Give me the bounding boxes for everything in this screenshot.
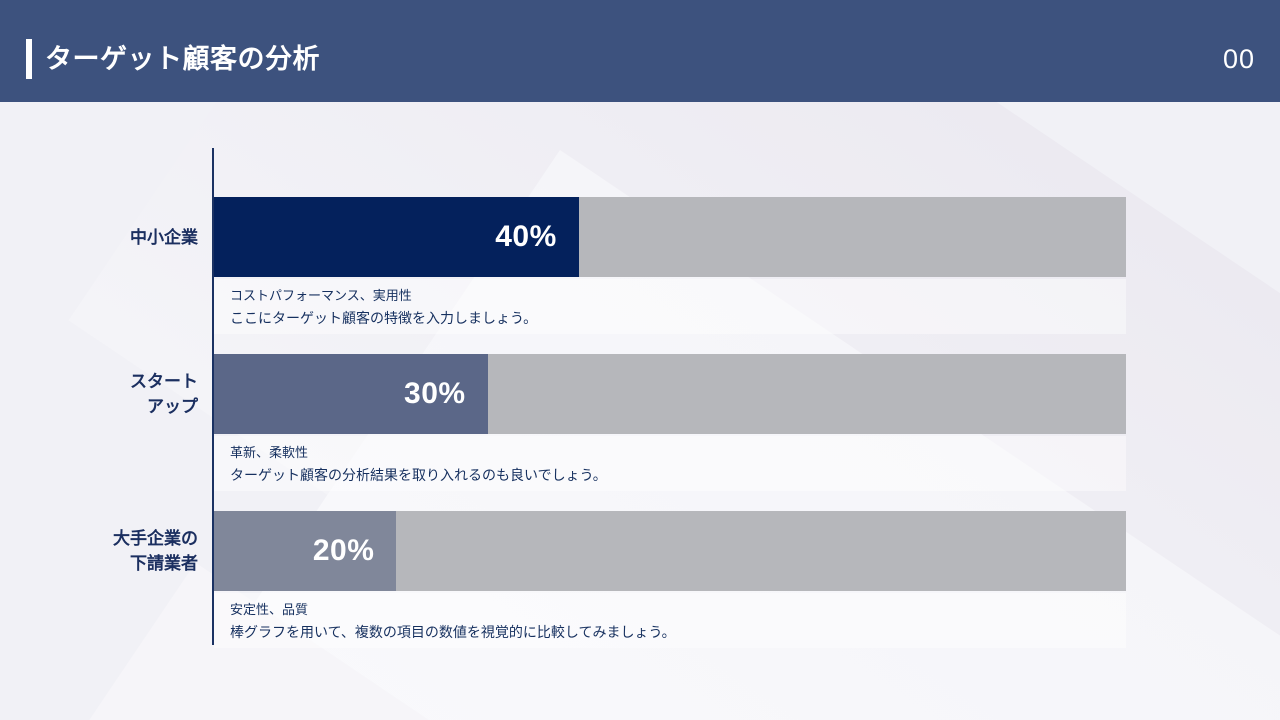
bar-description: コストパフォーマンス、実用性ここにターゲット顧客の特徴を入力しましょう。	[214, 279, 1126, 334]
bar-category-label: スタートアップ	[20, 369, 198, 419]
bar-category-label-line2: アップ	[20, 394, 198, 419]
bar-category-label: 大手企業の下請業者	[20, 526, 198, 576]
bar-category-label: 中小企業	[20, 225, 198, 250]
bar-description: 安定性、品質棒グラフを用いて、複数の項目の数値を視覚的に比較してみましょう。	[214, 593, 1126, 648]
bar-description-body: ターゲット顧客の分析結果を取り入れるのも良いでしょう。	[230, 463, 1126, 487]
bar-category-label-line1: スタート	[20, 369, 198, 394]
bar-description: 革新、柔軟性ターゲット顧客の分析結果を取り入れるのも良いでしょう。	[214, 436, 1126, 491]
bar-description-heading: コストパフォーマンス、実用性	[230, 285, 1126, 306]
bar-track: 40%	[214, 197, 1126, 277]
bar-value-label: 30%	[404, 377, 488, 411]
bar-description-body: 棒グラフを用いて、複数の項目の数値を視覚的に比較してみましょう。	[230, 620, 1126, 644]
bar-description-heading: 革新、柔軟性	[230, 442, 1126, 463]
bar-value-label: 40%	[495, 220, 579, 254]
bar-category-label-line1: 大手企業の	[20, 526, 198, 551]
bar-description-heading: 安定性、品質	[230, 599, 1126, 620]
title-accent-bar	[26, 39, 32, 79]
bar-chart: 中小企業40%コストパフォーマンス、実用性ここにターゲット顧客の特徴を入力しまし…	[0, 102, 1280, 720]
bar-category-label-line2: 下請業者	[20, 551, 198, 576]
page-number: 00	[1223, 42, 1255, 76]
slide-header: ターゲット顧客の分析 00	[0, 0, 1280, 102]
page-title: ターゲット顧客の分析	[45, 40, 320, 78]
slide-canvas: ターゲット顧客の分析 00 中小企業40%コストパフォーマンス、実用性ここにター…	[0, 0, 1280, 720]
bar-value-label: 20%	[313, 534, 397, 568]
bar-category-label-line1: 中小企業	[20, 225, 198, 250]
bar-fill: 40%	[214, 197, 579, 277]
bar-description-body: ここにターゲット顧客の特徴を入力しましょう。	[230, 306, 1126, 330]
bar-track: 20%	[214, 511, 1126, 591]
bar-fill: 30%	[214, 354, 488, 434]
bar-track: 30%	[214, 354, 1126, 434]
bar-fill: 20%	[214, 511, 396, 591]
